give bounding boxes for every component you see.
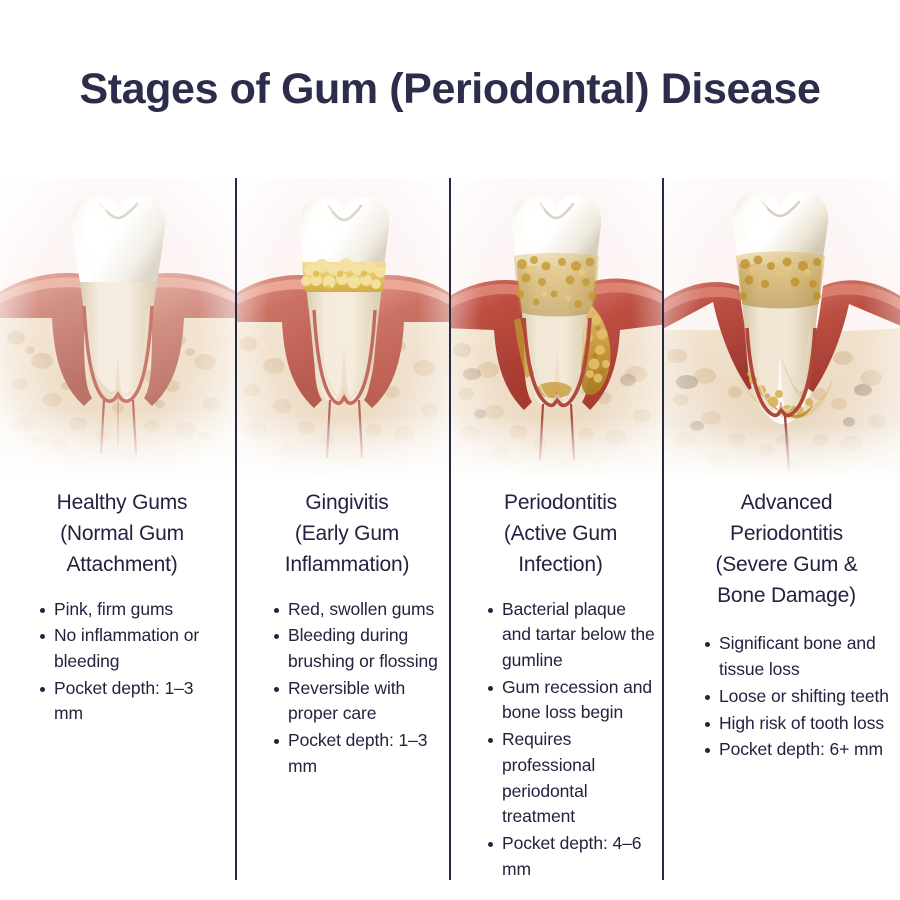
stage-heading-main: Periodontitis [504, 491, 617, 514]
stage-heading-periodontitis: Periodontitis (Active Gum Infection) [464, 488, 657, 581]
stage-heading-sub-1: (Active Gum [464, 519, 657, 550]
stage-panel-gingivitis: Gingivitis (Early Gum Inflammation) Red,… [236, 178, 450, 900]
advanced-periodontitis-tooth-illustration [663, 178, 900, 480]
stage-bullet-list-gingivitis: Red, swollen gums Bleeding during brushi… [250, 597, 444, 780]
healthy-tooth-illustration [0, 178, 236, 480]
stage-heading-main-2: Periodontitis [681, 519, 892, 550]
stage-heading-sub-1: (Normal Gum [16, 519, 228, 550]
list-item: Pocket depth: 4–6 mm [488, 831, 655, 882]
list-item: High risk of tooth loss [705, 711, 890, 737]
list-item: Bacterial plaque and tartar below the gu… [488, 597, 655, 674]
list-item: Bleeding during brushing or flossing [274, 623, 442, 674]
stage-heading-sub-1: (Early Gum [250, 519, 444, 550]
title-banner: Stages of Gum (Periodontal) Disease [0, 0, 900, 178]
stage-heading-sub-2: Attachment) [16, 550, 228, 581]
stage-text-healthy-gums: Healthy Gums (Normal Gum Attachment) Pin… [0, 480, 236, 727]
list-item: Loose or shifting teeth [705, 684, 890, 710]
stage-panel-periodontitis: Periodontitis (Active Gum Infection) Bac… [450, 178, 663, 900]
list-item: Pocket depth: 1–3 mm [40, 676, 226, 727]
stage-text-gingivitis: Gingivitis (Early Gum Inflammation) Red,… [236, 480, 450, 780]
periodontitis-tooth-illustration [450, 178, 663, 480]
stage-heading-healthy-gums: Healthy Gums (Normal Gum Attachment) [16, 488, 228, 581]
stage-heading-main: Healthy Gums [57, 491, 188, 514]
list-item: Gum recession and bone loss begin [488, 675, 655, 726]
column-divider-1 [235, 178, 237, 880]
stage-text-advanced-periodontitis: Advanced Periodontitis (Severe Gum & Bon… [663, 480, 900, 763]
stage-heading-sub-1: (Severe Gum & [681, 550, 892, 581]
stage-bullet-list-periodontitis: Bacterial plaque and tartar below the gu… [464, 597, 657, 883]
column-divider-3 [662, 178, 664, 880]
stage-heading-gingivitis: Gingivitis (Early Gum Inflammation) [250, 488, 444, 581]
stage-heading-advanced-periodontitis: Advanced Periodontitis (Severe Gum & Bon… [681, 488, 892, 611]
page-title: Stages of Gum (Periodontal) Disease [59, 61, 840, 118]
list-item: Reversible with proper care [274, 676, 442, 727]
stage-heading-sub-2: Infection) [464, 550, 657, 581]
column-divider-2 [449, 178, 451, 880]
stage-text-periodontitis: Periodontitis (Active Gum Infection) Bac… [450, 480, 663, 882]
stage-heading-main: Advanced [741, 491, 833, 514]
stage-panel-healthy-gums: Healthy Gums (Normal Gum Attachment) Pin… [0, 178, 236, 900]
list-item: No inflammation or bleeding [40, 623, 226, 674]
stage-bullet-list-healthy-gums: Pink, firm gums No inflammation or bleed… [16, 597, 228, 728]
gingivitis-tooth-illustration [236, 178, 450, 480]
stages-panel-grid: Healthy Gums (Normal Gum Attachment) Pin… [0, 178, 900, 900]
stage-bullet-list-advanced-periodontitis: Significant bone and tissue loss Loose o… [681, 631, 892, 763]
stage-heading-sub-2: Bone Damage) [681, 581, 892, 612]
stage-panel-advanced-periodontitis: Advanced Periodontitis (Severe Gum & Bon… [663, 178, 900, 900]
list-item: Pink, firm gums [40, 597, 226, 623]
stage-heading-main: Gingivitis [305, 491, 388, 514]
list-item: Significant bone and tissue loss [705, 631, 890, 682]
list-item: Pocket depth: 1–3 mm [274, 728, 442, 779]
list-item: Pocket depth: 6+ mm [705, 737, 890, 763]
list-item: Requires professional periodontal treatm… [488, 727, 655, 830]
stage-heading-sub-2: Inflammation) [250, 550, 444, 581]
list-item: Red, swollen gums [274, 597, 442, 623]
